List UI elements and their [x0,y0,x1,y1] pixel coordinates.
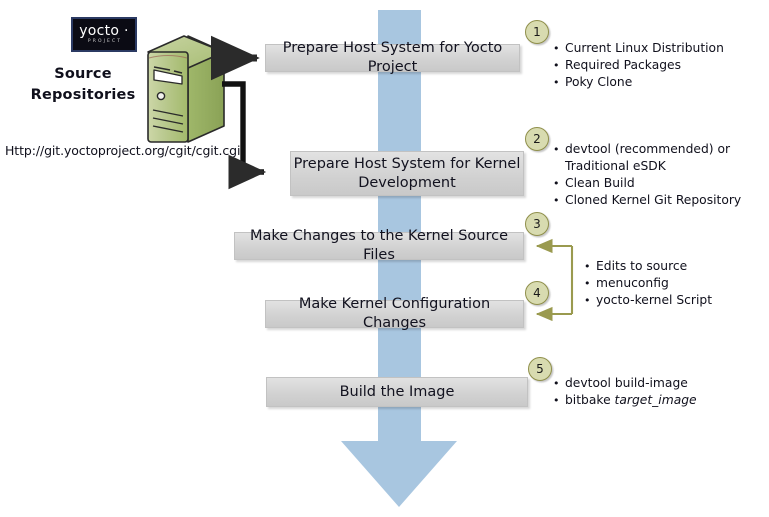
process-box-step-1-label: Prepare Host System for Yocto Project [266,39,519,77]
diagram-canvas: yocto · PROJECT Source Repositories Http… [0,0,769,517]
bullet-list-step-1: Current Linux Distribution Required Pack… [552,40,724,91]
process-box-step-1[interactable]: Prepare Host System for Yocto Project [265,44,520,72]
step-badge-4-number: 4 [533,286,541,300]
yocto-project-logo: yocto · PROJECT [71,17,137,52]
step-badge-3-number: 3 [533,217,541,231]
step-badge-5: 5 [528,357,552,381]
step-badge-1-number: 1 [533,25,541,39]
list-item: Current Linux Distribution [552,40,724,57]
step-badge-5-number: 5 [536,362,544,376]
list-item: Poky Clone [552,74,724,91]
yocto-logo-subtext: PROJECT [88,38,122,45]
list-item-text: bitbake [565,393,615,407]
list-item: Clean Build [552,175,741,192]
process-box-step-3-label: Make Changes to the Kernel Source Files [235,227,523,265]
bullet-list-steps-3-4: Edits to source menuconfig yocto-kernel … [583,258,712,309]
process-box-step-4[interactable]: Make Kernel Configuration Changes [265,300,524,328]
step-badge-4: 4 [525,281,549,305]
bullet-list-step-5: devtool build-image bitbake target_image [552,375,697,409]
arrow-server-to-step2 [222,84,264,172]
list-item: Edits to source [583,258,712,275]
list-item: Cloned Kernel Git Repository [552,192,741,209]
flow-arrowhead-icon [341,441,457,507]
connector-bracket-steps-3-4 [537,246,572,314]
server-tower-icon [136,30,228,148]
list-item: devtool build-image [552,375,697,392]
source-repositories-label: Source Repositories [24,64,142,106]
process-box-step-2-label-line2: Development [358,174,456,193]
list-item-italic-text: target_image [615,393,697,407]
process-box-step-2-label-line1: Prepare Host System for Kernel [294,155,521,174]
yocto-logo-wordmark: yocto · [79,25,129,38]
process-box-step-3[interactable]: Make Changes to the Kernel Source Files [234,232,524,260]
list-item: devtool (recommended) or [552,141,741,158]
process-box-step-4-label: Make Kernel Configuration Changes [266,295,523,333]
list-item: Required Packages [552,57,724,74]
step-badge-1: 1 [525,20,549,44]
source-label-line2: Repositories [31,87,136,103]
process-box-step-5-label: Build the Image [340,383,455,402]
list-item-continuation: Traditional eSDK [552,158,741,175]
process-box-step-2[interactable]: Prepare Host System for Kernel Developme… [290,151,524,196]
bullet-list-step-2: devtool (recommended) or Traditional eSD… [552,141,741,209]
step-badge-2: 2 [525,127,549,151]
list-item: menuconfig [583,275,712,292]
step-badge-3: 3 [525,212,549,236]
source-label-line1: Source [54,66,112,82]
list-item: yocto-kernel Script [583,292,712,309]
step-badge-2-number: 2 [533,132,541,146]
list-item: bitbake target_image [552,392,697,409]
process-box-step-5[interactable]: Build the Image [266,377,528,407]
